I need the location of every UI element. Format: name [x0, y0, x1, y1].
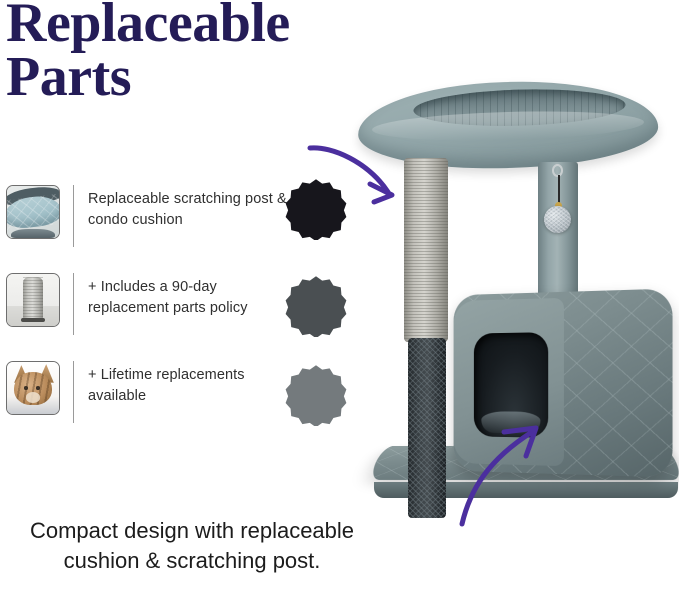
feature-divider	[73, 273, 74, 335]
feature-item: + Lifetime replacements available	[6, 359, 296, 447]
feature-divider	[73, 185, 74, 247]
arrow-to-condo-opening	[440, 398, 562, 530]
feature-item: + Includes a 90-day replacement parts po…	[6, 271, 296, 359]
page-title: Replaceable Parts	[6, 0, 386, 105]
arrow-to-scratching-post	[292, 140, 412, 212]
bottom-caption: Compact design with replaceable cushion …	[22, 516, 362, 577]
feature-item: Replaceable scratching post & condo cush…	[6, 183, 296, 271]
scratching-post-thumbnail	[6, 273, 60, 327]
feature-label: + Includes a 90-day replacement parts po…	[88, 271, 293, 318]
feature-list: Replaceable scratching post & condo cush…	[6, 183, 296, 447]
product-feature-infographic: Replaceable Parts Replaceable scratching…	[0, 0, 679, 614]
feature-divider	[73, 361, 74, 423]
cushion-thumbnail	[6, 185, 60, 239]
feature-label: + Lifetime replacements available	[88, 359, 293, 406]
toy-string	[558, 175, 560, 205]
feature-label: Replaceable scratching post & condo cush…	[88, 183, 293, 230]
cat-photo-thumbnail	[6, 361, 60, 415]
hanging-pom-pom-toy	[544, 206, 571, 233]
